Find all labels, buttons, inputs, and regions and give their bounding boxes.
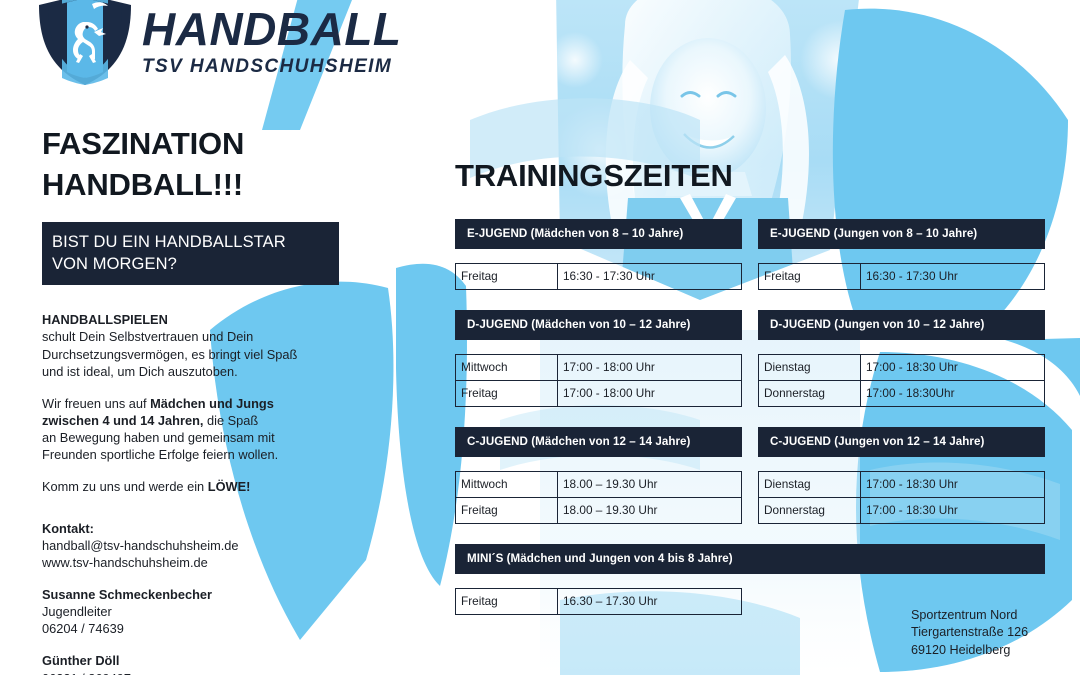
schedule-day-cell: Freitag <box>456 381 558 407</box>
schedule-category-bar: C-JUGEND (Mädchen von 12 – 14 Jahre) <box>455 427 742 457</box>
schedule-time-cell: 16.30 – 17.30 Uhr <box>558 589 742 615</box>
schedule-time-cell: 18.00 – 19.30 Uhr <box>558 472 742 498</box>
schedule-day-cell: Donnerstag <box>759 498 861 524</box>
club-logo: HANDBALL TSV HANDSCHUHSHEIM <box>34 0 434 88</box>
contact-person-1: Susanne Schmeckenbecher Jugendleiter 062… <box>42 586 372 637</box>
paragraph-benefits-l1: schult Dein Selbstvertrauen und Dein <box>42 329 253 344</box>
body-copy: HANDBALLSPIELEN schult Dein Selbstvertra… <box>42 311 372 495</box>
schedule-block: E-JUGEND (Jungen von 8 – 10 Jahre)Freita… <box>758 219 1045 290</box>
table-row: Freitag16.30 – 17.30 Uhr <box>456 589 742 615</box>
schedule-category-bar: C-JUGEND (Jungen von 12 – 14 Jahre) <box>758 427 1045 457</box>
handball-flyer-poster: HANDBALL TSV HANDSCHUHSHEIM FASZINATION … <box>0 0 1080 675</box>
contact-general: Kontakt: handball@tsv-handschuhsheim.de … <box>42 520 372 571</box>
table-row: Freitag18.00 – 19.30 Uhr <box>456 498 742 524</box>
schedule-block: E-JUGEND (Mädchen von 8 – 10 Jahre)Freit… <box>455 219 742 290</box>
schedule-table: Mittwoch18.00 – 19.30 UhrFreitag18.00 – … <box>455 471 742 524</box>
schedule-table: Freitag16:30 - 17:30 Uhr <box>455 263 742 290</box>
table-row: Dienstag17:00 - 18:30 Uhr <box>759 355 1045 381</box>
contact-label: Kontakt: <box>42 520 372 537</box>
schedule-category-bar: E-JUGEND (Mädchen von 8 – 10 Jahre) <box>455 219 742 249</box>
schedule-table: Freitag16.30 – 17.30 Uhr <box>455 588 742 615</box>
invite-l2-plain: die Spaß <box>203 413 258 428</box>
paragraph-benefits-l2: Durchsetzungsvermögen, es bringt viel Sp… <box>42 347 297 362</box>
schedule-day-cell: Donnerstag <box>759 381 861 407</box>
invite-l2-bold: zwischen 4 und 14 Jahren, <box>42 413 203 428</box>
logo-main-text: HANDBALL <box>142 6 432 52</box>
contact-website[interactable]: www.tsv-handschuhsheim.de <box>42 554 372 571</box>
schedule-category-bar: D-JUGEND (Jungen von 10 – 12 Jahre) <box>758 310 1045 340</box>
schedule-block: MINI´S (Mädchen und Jungen von 4 bis 8 J… <box>455 544 1045 615</box>
schedule-day-cell: Freitag <box>759 264 861 290</box>
left-content-column: FASZINATION HANDBALL!!! BIST DU EIN HAND… <box>42 124 372 675</box>
contact-person-1-phone[interactable]: 06204 / 74639 <box>42 620 372 637</box>
table-row: Donnerstag17:00 - 18:30 Uhr <box>759 498 1045 524</box>
schedule-category-bar: D-JUGEND (Mädchen von 10 – 12 Jahre) <box>455 310 742 340</box>
venue-line-1: Sportzentrum Nord <box>911 607 1028 624</box>
paragraph-invite: Wir freuen uns auf Mädchen und Jungs zwi… <box>42 395 372 464</box>
schedule-time-cell: 17:00 - 18:00 Uhr <box>558 381 742 407</box>
table-row: Freitag17:00 - 18:00 Uhr <box>456 381 742 407</box>
training-times-column: TRAININGSZEITEN E-JUGEND (Mädchen von 8 … <box>455 160 1045 635</box>
venue-line-2: Tiergartenstraße 126 <box>911 624 1028 641</box>
paragraph-benefits: HANDBALLSPIELEN schult Dein Selbstvertra… <box>42 311 372 380</box>
cta-bold: LÖWE! <box>208 479 251 494</box>
schedule-time-cell: 17:00 - 18:30Uhr <box>861 381 1045 407</box>
contact-person-2-phone[interactable]: 06221 / 869497 <box>42 670 372 675</box>
invite-l4: Freunden sportliche Erfolge feiern wolle… <box>42 447 278 462</box>
contact-person-2: Günther Döll 06221 / 869497 <box>42 652 372 675</box>
paragraph-benefits-l3: und ist ideal, um Dich auszutoben. <box>42 364 238 379</box>
table-row: Mittwoch17:00 - 18:00 Uhr <box>456 355 742 381</box>
invite-l1-bold: Mädchen und Jungs <box>150 396 274 411</box>
schedule-time-cell: 16:30 - 17:30 Uhr <box>861 264 1045 290</box>
contact-person-1-role: Jugendleiter <box>42 603 372 620</box>
schedule-time-cell: 17:00 - 18:00 Uhr <box>558 355 742 381</box>
contact-person-2-name: Günther Döll <box>42 652 372 669</box>
schedule-table: Dienstag17:00 - 18:30 UhrDonnerstag17:00… <box>758 471 1045 524</box>
schedule-day-cell: Mittwoch <box>456 472 558 498</box>
schedule-table: Freitag16:30 - 17:30 Uhr <box>758 263 1045 290</box>
schedule-block: C-JUGEND (Mädchen von 12 – 14 Jahre)Mitt… <box>455 427 742 524</box>
schedule-time-cell: 17:00 - 18:30 Uhr <box>861 355 1045 381</box>
schedule-day-cell: Freitag <box>456 264 558 290</box>
schedule-time-cell: 18.00 – 19.30 Uhr <box>558 498 742 524</box>
schedule-block: D-JUGEND (Mädchen von 10 – 12 Jahre)Mitt… <box>455 310 742 407</box>
schedule-table: Mittwoch17:00 - 18:00 UhrFreitag17:00 - … <box>455 354 742 407</box>
banner-line-2: VON MORGEN? <box>52 253 329 275</box>
training-times-title: TRAININGSZEITEN <box>455 160 1045 191</box>
schedule-category-bar: MINI´S (Mädchen und Jungen von 4 bis 8 J… <box>455 544 1045 574</box>
logo-sub-text: TSV HANDSCHUHSHEIM <box>142 57 432 76</box>
invite-l3: an Bewegung haben und gemeinsam mit <box>42 430 275 445</box>
table-row: Donnerstag17:00 - 18:30Uhr <box>759 381 1045 407</box>
schedule-category-bar: E-JUGEND (Jungen von 8 – 10 Jahre) <box>758 219 1045 249</box>
schedule-day-cell: Freitag <box>456 498 558 524</box>
schedule-day-cell: Dienstag <box>759 472 861 498</box>
headline-line-1: FASZINATION <box>42 124 372 165</box>
schedule-day-cell: Dienstag <box>759 355 861 381</box>
paragraph-benefits-lead: HANDBALLSPIELEN <box>42 312 168 327</box>
contact-block: Kontakt: handball@tsv-handschuhsheim.de … <box>42 520 372 675</box>
cta-plain: Komm zu uns und werde ein <box>42 479 208 494</box>
schedule-block: C-JUGEND (Jungen von 12 – 14 Jahre)Diens… <box>758 427 1045 524</box>
schedule-day-cell: Mittwoch <box>456 355 558 381</box>
page-title: FASZINATION HANDBALL!!! <box>42 124 372 206</box>
table-row: Freitag16:30 - 17:30 Uhr <box>759 264 1045 290</box>
schedule-grid: E-JUGEND (Mädchen von 8 – 10 Jahre)Freit… <box>455 219 1045 635</box>
logo-wordmark: HANDBALL TSV HANDSCHUHSHEIM <box>142 6 432 76</box>
schedule-table: Dienstag17:00 - 18:30 UhrDonnerstag17:00… <box>758 354 1045 407</box>
headline-line-2: HANDBALL!!! <box>42 165 372 206</box>
schedule-block: D-JUGEND (Jungen von 10 – 12 Jahre)Diens… <box>758 310 1045 407</box>
contact-email[interactable]: handball@tsv-handschuhsheim.de <box>42 537 372 554</box>
shield-lion-icon <box>34 0 136 88</box>
table-row: Freitag16:30 - 17:30 Uhr <box>456 264 742 290</box>
table-row: Mittwoch18.00 – 19.30 Uhr <box>456 472 742 498</box>
banner-line-1: BIST DU EIN HANDBALLSTAR <box>52 231 329 253</box>
schedule-time-cell: 17:00 - 18:30 Uhr <box>861 498 1045 524</box>
venue-line-3: 69120 Heidelberg <box>911 642 1028 659</box>
venue-address: Sportzentrum Nord Tiergartenstraße 126 6… <box>911 607 1028 659</box>
question-banner: BIST DU EIN HANDBALLSTAR VON MORGEN? <box>42 222 339 286</box>
table-row: Dienstag17:00 - 18:30 Uhr <box>759 472 1045 498</box>
schedule-time-cell: 17:00 - 18:30 Uhr <box>861 472 1045 498</box>
schedule-day-cell: Freitag <box>456 589 558 615</box>
invite-l1-plain: Wir freuen uns auf <box>42 396 150 411</box>
contact-person-1-name: Susanne Schmeckenbecher <box>42 586 372 603</box>
paragraph-call-to-action: Komm zu uns und werde ein LÖWE! <box>42 478 372 495</box>
schedule-time-cell: 16:30 - 17:30 Uhr <box>558 264 742 290</box>
